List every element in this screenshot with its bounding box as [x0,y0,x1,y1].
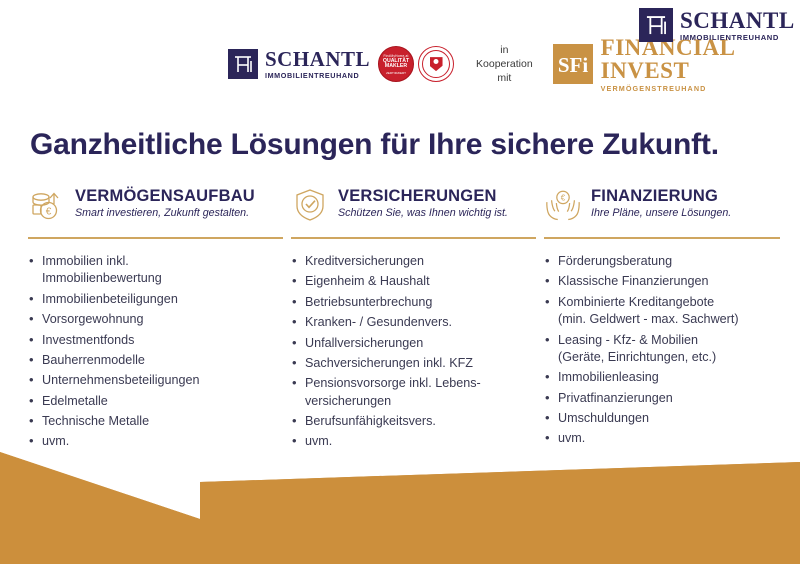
column-slogan: Smart investieren, Zukunft gestalten. [75,208,255,220]
list-finanzierung: Förderungsberatung Klassische Finanzieru… [544,253,794,448]
ith-monogram-icon [228,49,258,79]
list-versicherungen: Kreditversicherungen Eigenheim & Haushal… [291,253,536,451]
list-item: Eigenheim & Haushalt [291,273,536,290]
ith-schantl-logo-center: SCHANTL IMMOBILIENTREUHAND FindMyHome.at… [228,36,800,92]
seal-red-bottom: ZERTIFIZIERT [386,71,406,75]
list-item: Sachversicherungen inkl. KFZ [291,355,536,372]
certification-seals: FindMyHome.at QUALITÄT MAKLER ZERTIFIZIE… [378,46,454,82]
svg-text:SFi: SFi [557,53,588,77]
ith-schantl-logo-topright: SCHANTL IMMOBILIENTREUHAND [639,8,795,42]
list-item: Bauherrenmodelle [28,352,283,369]
logo-bar: SCHANTL IMMOBILIENTREUHAND FindMyHome.at… [0,0,800,112]
list-item-continuation: Immobilienbewertung [28,270,283,287]
list-item: Förderungsberatung [544,253,794,270]
list-item-continuation: (min. Geldwert - max. Sachwert) [544,311,794,328]
list-item: Kombinierte Kreditangebote [544,294,794,311]
list-item: Investmentfonds [28,332,283,349]
column-titles: VERSICHERUNGEN Schützen Sie, was Ihnen w… [338,186,508,220]
list-item: Betriebsunterbrechung [291,294,536,311]
list-item: Privatfinanzierungen [544,390,794,407]
column-header: VERSICHERUNGEN Schützen Sie, was Ihnen w… [291,186,536,230]
ith-monogram-icon-topright [639,8,673,42]
svg-text:€: € [46,207,52,218]
list-item: Klassische Finanzierungen [544,273,794,290]
column-header: € VERMÖGENSAUFBAU Smart investieren, Zuk… [28,186,283,230]
poster-page: SCHANTL IMMOBILIENTREUHAND FindMyHome.at… [0,0,800,564]
list-item: Edelmetalle [28,393,283,410]
shield-check-icon [291,186,329,224]
ith-name-topright: SCHANTL [680,9,795,32]
list-item: Leasing - Kfz- & Mobilien [544,332,794,349]
list-item: Kranken- / Gesundenvers. [291,314,536,331]
column-titles: VERMÖGENSAUFBAU Smart investieren, Zukun… [75,186,255,220]
list-item-continuation: (Geräte, Einrichtungen, etc.) [544,349,794,366]
column-divider [291,237,536,239]
svg-text:€: € [561,194,566,203]
column-slogan: Ihre Pläne, unsere Lösungen. [591,208,731,220]
ith-logo-group-topright: SCHANTL IMMOBILIENTREUHAND [639,8,795,42]
column-divider [28,237,283,239]
list-item: Vorsorgewohnung [28,311,283,328]
list-item: Immobilienleasing [544,369,794,386]
column-title: FINANZIERUNG [591,188,731,205]
hands-euro-coin-icon: € [544,186,582,224]
list-item: Technische Metalle [28,413,283,430]
column-header: € FINANZIERUNG Ihre Pläne, unsere Lösung… [544,186,794,230]
column-versicherungen: VERSICHERUNGEN Schützen Sie, was Ihnen w… [291,186,536,454]
sfi-name: FINANCIAL INVEST [601,36,800,82]
ith-logo-group: SCHANTL IMMOBILIENTREUHAND [228,49,370,79]
service-columns: € VERMÖGENSAUFBAU Smart investieren, Zuk… [0,186,800,454]
ith-subtitle-topright: IMMOBILIENTREUHAND [680,34,795,42]
sfi-wordmark: FINANCIAL INVEST VERMÖGENSTREUHAND [601,36,800,92]
beeideter-sachverstaendiger-seal-icon [418,46,454,82]
sfi-financial-invest-logo: SFi FINANCIAL INVEST VERMÖGENSTREUHAND [553,36,800,92]
ith-wordmark-topright: SCHANTL IMMOBILIENTREUHAND [680,9,795,42]
ith-wordmark: SCHANTL IMMOBILIENTREUHAND [265,49,370,79]
cooperation-label: in Kooperation mit [476,43,533,86]
list-item: Immobilienbeteiligungen [28,291,283,308]
list-item: Umschuldungen [544,410,794,427]
column-finanzierung: € FINANZIERUNG Ihre Pläne, unsere Lösung… [544,186,794,454]
column-slogan: Schützen Sie, was Ihnen wichtig ist. [338,208,508,220]
footer-banner: Office Wien: Passauer Platz 6 1010 Wien … [0,440,800,564]
ith-name: SCHANTL [265,49,370,70]
column-title: VERMÖGENSAUFBAU [75,188,255,205]
seal-red-mid2: MAKLER [385,64,407,69]
page-headline: Ganzheitliche Lösungen für Ihre sichere … [30,128,719,162]
column-title: VERSICHERUNGEN [338,188,508,205]
sfi-subtitle: VERMÖGENSTREUHAND [601,85,800,92]
list-item: Pensionsvorsorge inkl. Lebens- [291,375,536,392]
qualitaetsmakler-seal-icon: FindMyHome.at QUALITÄT MAKLER ZERTIFIZIE… [378,46,414,82]
column-vermoegensaufbau: € VERMÖGENSAUFBAU Smart investieren, Zuk… [28,186,283,454]
list-item-continuation: versicherungen [291,393,536,410]
list-item: Kreditversicherungen [291,253,536,270]
list-item: Unternehmensbeteiligungen [28,372,283,389]
footer-bowtie-shape [0,440,800,564]
list-item: Berufsunfähigkeitsvers. [291,413,536,430]
column-divider [544,237,780,239]
list-item: Immobilien inkl. [28,253,283,270]
coins-euro-growth-icon: € [28,186,66,224]
list-vermoegensaufbau: Immobilien inkl. Immobilienbewertung Imm… [28,253,283,451]
sfi-monogram-icon: SFi [553,44,593,84]
ith-subtitle: IMMOBILIENTREUHAND [265,72,370,79]
column-titles: FINANZIERUNG Ihre Pläne, unsere Lösungen… [591,186,731,220]
list-item: Unfallversicherungen [291,335,536,352]
